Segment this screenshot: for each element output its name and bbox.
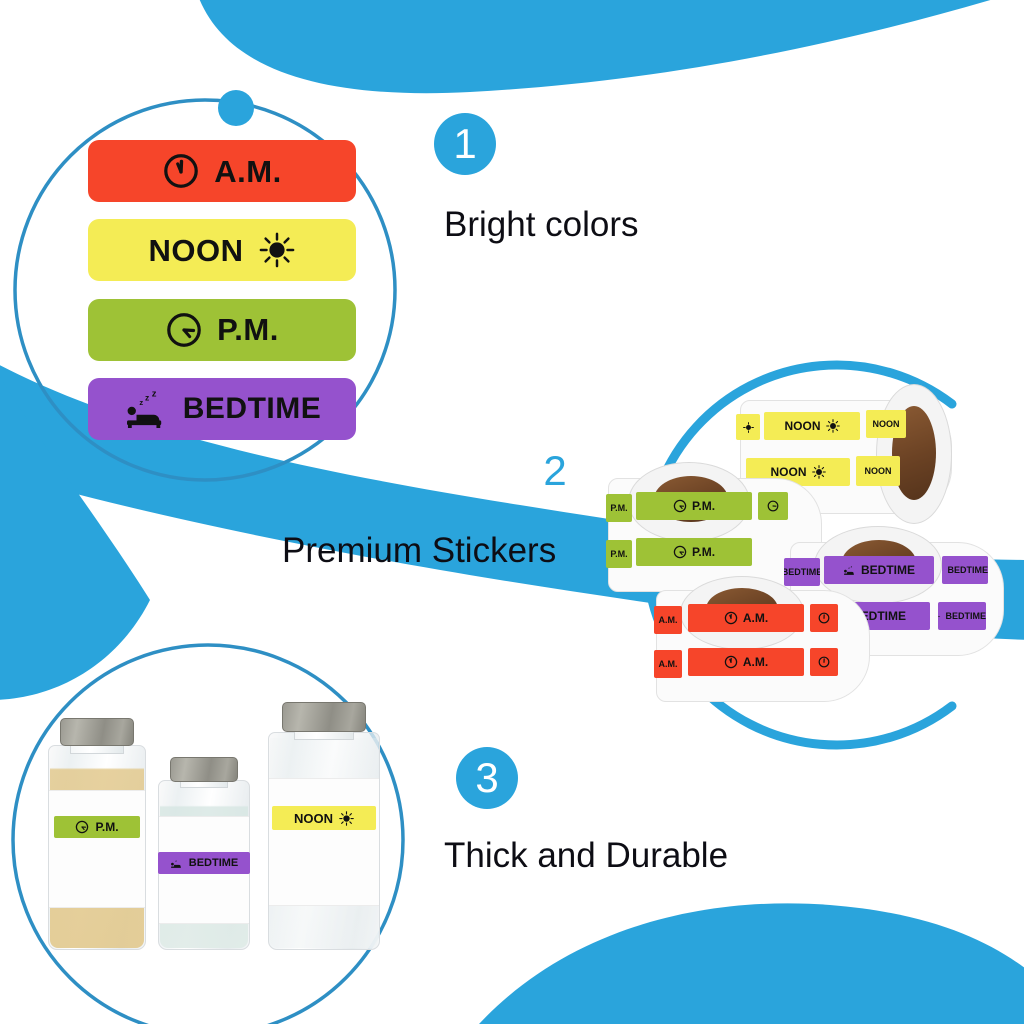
bed-zzz-icon: zz — [843, 564, 856, 576]
vial-label-bedtime: z BEDTIME — [158, 852, 250, 874]
roll-label-text: BEDTIME — [942, 556, 988, 584]
roll-label-text: A.M. — [688, 648, 804, 676]
vial-group: P.M. z BEDTIME NOON — [40, 690, 430, 950]
roll-label-text: P.M. — [606, 540, 632, 568]
label-strip-noon[interactable]: NOON — [88, 219, 356, 281]
vial-pm[interactable]: P.M. — [48, 718, 146, 950]
roll-label-text — [736, 414, 760, 440]
step-title-3: Thick and Durable — [444, 838, 728, 873]
sun-icon — [258, 231, 296, 269]
sun-icon — [826, 419, 840, 433]
roll-label-text — [810, 648, 838, 676]
clock-afternoon-icon — [75, 820, 89, 834]
svg-text:z: z — [139, 398, 143, 407]
roll-label-text: P.M. — [606, 494, 632, 522]
vial-paper-label — [269, 778, 379, 906]
svg-text:z: z — [145, 392, 149, 402]
roll-label-text: P.M. — [636, 538, 752, 566]
roll-label-text: NOON — [764, 412, 860, 440]
label-strip-text: A.M. — [214, 156, 281, 187]
clock-afternoon-icon — [165, 311, 203, 349]
roll-label-text: A.M. — [654, 650, 682, 678]
vial-label-pm: P.M. — [54, 816, 140, 838]
label-strip-pm[interactable]: P.M. — [88, 299, 356, 361]
vial-paper-label — [49, 790, 145, 908]
vial-cap — [282, 702, 366, 732]
step-badge-3: 3 — [456, 747, 518, 809]
roll-label-text: BEDTIME — [938, 602, 986, 630]
roll-label-text: P.M. — [636, 492, 752, 520]
infographic-page: A.M. NOON — [0, 0, 1024, 1024]
label-strip-group: A.M. NOON — [88, 140, 356, 440]
clock-morning-icon — [724, 611, 738, 625]
clock-morning-icon — [818, 656, 830, 668]
step-badge-2: 2 — [524, 440, 586, 502]
bed-zzz-icon — [938, 611, 941, 621]
roll-label-text — [810, 604, 838, 632]
vial-bedtime[interactable]: z BEDTIME — [158, 760, 250, 950]
svg-text:z: z — [851, 564, 853, 568]
svg-text:z: z — [175, 860, 177, 863]
vial-cap — [170, 757, 238, 782]
top-swoosh — [190, 0, 1024, 93]
roll-label-text: A.M. — [688, 604, 804, 632]
clock-afternoon-icon — [673, 545, 687, 559]
sticker-roll-am[interactable]: A.M. A.M. A.M. A.M. — [656, 576, 868, 708]
bed-zzz-icon: z z z — [123, 390, 169, 428]
svg-text:z: z — [151, 390, 156, 400]
bed-zzz-icon — [942, 565, 943, 575]
sticker-roll-group: NOON NOON NOON NOON — [600, 378, 1000, 698]
clock-morning-icon — [162, 152, 200, 190]
label-strip-text: BEDTIME — [183, 394, 322, 424]
vial-cap — [60, 718, 134, 746]
step-badge-1: 1 — [434, 113, 496, 175]
vial-noon[interactable]: NOON — [268, 702, 380, 950]
clock-afternoon-icon — [673, 499, 687, 513]
label-strip-bedtime[interactable]: z z z BEDTIME — [88, 378, 356, 440]
roll-label-text: A.M. — [654, 606, 682, 634]
label-strip-text: P.M. — [217, 314, 279, 345]
bed-zzz-icon: z — [170, 857, 183, 869]
vial-label-noon: NOON — [272, 806, 376, 830]
accent-dot — [218, 90, 254, 126]
clock-morning-icon — [724, 655, 738, 669]
sun-icon — [339, 811, 354, 826]
roll-label-text: NOON — [856, 456, 900, 486]
sun-icon — [743, 422, 754, 433]
step-title-2: Premium Stickers — [282, 533, 556, 568]
svg-text:z: z — [848, 567, 850, 570]
step-title-1: Bright colors — [444, 207, 639, 242]
clock-afternoon-icon — [767, 500, 779, 512]
roll-label-text — [758, 492, 788, 520]
label-strip-text: NOON — [149, 235, 244, 266]
label-strip-am[interactable]: A.M. — [88, 140, 356, 202]
roll-label-text: NOON — [866, 410, 906, 438]
bottom-swoosh — [470, 903, 1024, 1024]
clock-morning-icon — [818, 612, 830, 624]
